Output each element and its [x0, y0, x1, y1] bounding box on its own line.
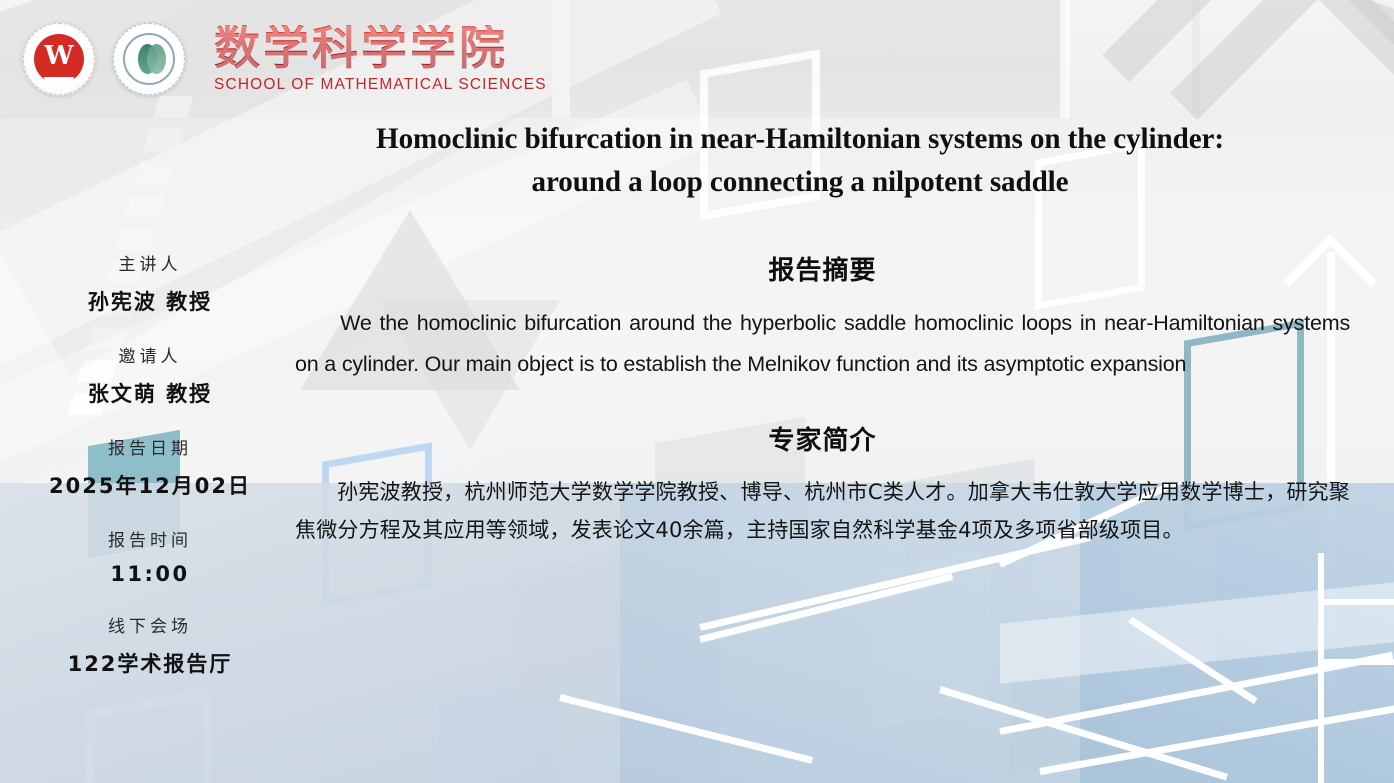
- parallelogram-blue: [437, 679, 557, 783]
- abstract-body: We the homoclinic bifurcation around the…: [295, 303, 1350, 386]
- horizontal-rule: [1318, 659, 1394, 665]
- bottom-sheen: [1000, 582, 1394, 683]
- sidebar-value-date: 2025年12月02日: [0, 470, 300, 500]
- poster-header: W 数学科学学院 SCHOOL OF MATHEMATICAL SCIENCES: [0, 0, 1394, 118]
- logo-glyph-right: [147, 44, 166, 74]
- sidebar-value-inviter: 张文萌 教授: [0, 378, 300, 408]
- sidebar-label-time: 报告时间: [0, 526, 300, 551]
- sidebar-label-inviter: 邀请人: [0, 342, 300, 367]
- bio-body: 孙宪波教授，杭州师范大学数学学院教授、博导、杭州市C类人才。加拿大韦仕敦大学应用…: [295, 473, 1350, 551]
- main-content: 报告摘要 We the homoclinic bifurcation aroun…: [295, 250, 1350, 550]
- sidebar-value-venue: 122学术报告厅: [0, 648, 300, 678]
- abstract-heading: 报告摘要: [295, 250, 1350, 287]
- zigzag-line: [939, 686, 1228, 780]
- horizontal-rule: [1318, 599, 1394, 605]
- zigzag-line: [699, 573, 953, 643]
- parallelogram-white: [870, 549, 990, 730]
- logo-glyph: W: [44, 43, 73, 69]
- zigzag-line: [999, 652, 1393, 735]
- sidebar-label-speaker: 主讲人: [0, 250, 300, 275]
- brand-name-cn: 数学科学学院: [214, 25, 547, 71]
- title-line-1: Homoclinic bifurcation in near-Hamiltoni…: [228, 118, 1373, 161]
- title-line-2: around a loop connecting a nilpotent sad…: [228, 161, 1373, 204]
- brand-name-en: SCHOOL OF MATHEMATICAL SCIENCES: [214, 77, 547, 93]
- section-gap: [295, 386, 1350, 420]
- vertical-rule: [1318, 553, 1324, 783]
- zigzag-line: [559, 694, 813, 764]
- poster-canvas: W 数学科学学院 SCHOOL OF MATHEMATICAL SCIENCES…: [0, 0, 1394, 783]
- parallelogram-grey: [515, 548, 655, 763]
- zigzag-line: [1128, 617, 1258, 705]
- sidebar-value-speaker: 孙宪波 教授: [0, 286, 300, 316]
- school-of-mathematical-sciences-logo-icon: [112, 22, 186, 96]
- event-details-sidebar: 主讲人 孙宪波 教授 邀请人 张文萌 教授 报告日期 2025年12月02日 报…: [0, 250, 300, 704]
- logo-book-shape: [44, 77, 74, 86]
- seminar-title: Homoclinic bifurcation in near-Hamiltoni…: [228, 118, 1373, 203]
- parallelogram-teal: [1010, 602, 1120, 771]
- sidebar-value-time: 11:00: [0, 562, 300, 586]
- chongqing-normal-university-logo-icon: W: [22, 22, 96, 96]
- sidebar-label-venue: 线下会场: [0, 612, 300, 637]
- sidebar-label-date: 报告日期: [0, 434, 300, 459]
- zigzag-line: [1039, 706, 1394, 775]
- brand-block: 数学科学学院 SCHOOL OF MATHEMATICAL SCIENCES: [214, 25, 547, 93]
- bio-heading: 专家简介: [295, 420, 1350, 457]
